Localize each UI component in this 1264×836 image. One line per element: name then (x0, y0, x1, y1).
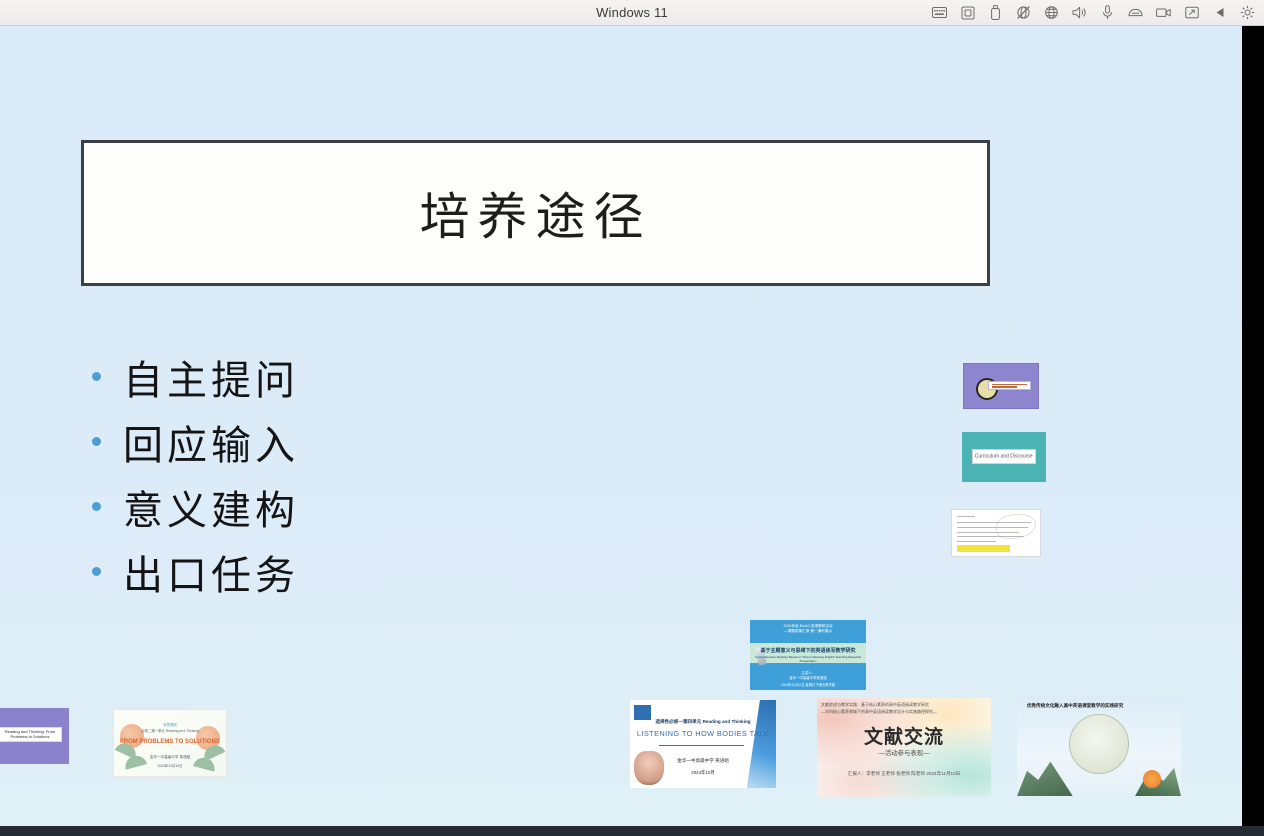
flag-icon (634, 705, 651, 720)
person-photo (634, 751, 664, 785)
keyboard-icon[interactable] (931, 4, 948, 21)
network-disabled-icon[interactable] (1015, 4, 1032, 21)
mountain-left-icon (1017, 754, 1073, 796)
purple-circle-slide-thumbnail[interactable] (963, 363, 1039, 409)
presentation-slide[interactable]: 培养途径 自主提问 回应输入 意义建构 出口任务 (0, 26, 1242, 826)
list-item: 回应输入 (92, 409, 299, 474)
thumbnail-caption: Reading and Thinking: From Problems to S… (5, 729, 55, 739)
page-title: 培养途径 (420, 177, 652, 249)
thumbnail-headline: 文献交流 (817, 722, 991, 749)
cutoff-purple-slide-thumbnail[interactable]: Reading and Thinking: From Problems to S… (0, 708, 69, 764)
circular-ornament (1069, 714, 1129, 774)
cpu-icon[interactable] (959, 4, 976, 21)
thumbnail-footer3: 2024年11月10日 星期日 于第五教学楼 (750, 682, 866, 687)
bullet-label: 自主提问 (123, 348, 299, 406)
listening-cover-slide-thumbnail[interactable]: 选择性必修一第四单元 Reading and Thinking LISTENIN… (630, 700, 776, 788)
list-item: 意义建构 (92, 474, 299, 539)
watercolor-literature-slide-thumbnail[interactable]: 文献综述与教学实践：基于核心素养的高中英语阅读教学研究 —学科核心素养视域下的高… (817, 698, 991, 797)
thumbnail-headline: FROM PROBLEMS TO SOLUTIONS (114, 739, 226, 745)
camera-icon[interactable] (1155, 4, 1172, 21)
thumbnail-textbox: Curriculum and Discourse (972, 449, 1036, 464)
thumbnail-headline: 基于主题意义与思维下的英语读写教学研究 (750, 647, 866, 654)
thumbnail-caption: Curriculum and Discourse (975, 453, 1033, 459)
thumbnail-line1: 2024年秋 Book2 英语教研活动 (750, 624, 866, 629)
right-letterbox (1242, 26, 1264, 836)
thumbnail-textbox: Reading and Thinking: From Problems to S… (0, 727, 62, 742)
printer-icon[interactable] (1127, 4, 1144, 21)
slide-title-box: 培养途径 (81, 140, 990, 286)
thumbnail-line1: 选择性必修一第四单元 Reading and Thinking (630, 719, 776, 725)
thumbnail-line2: —课题成果汇报·第一课时展示 (750, 629, 866, 634)
ink-painting-slide-thumbnail[interactable]: 优秀传统文化融入高中英语课堂教学的实践研究 (1017, 696, 1181, 796)
thumbnail-line2: —学科核心素养视域下的高中英语阅读教学设计与实施路径探究— (817, 709, 991, 715)
bullet-dot-icon (92, 437, 101, 446)
blue-presentation-cover-thumbnail[interactable]: 2024年秋 Book2 英语教研活动 —课题成果汇报·第一课时展示 基于主题意… (750, 620, 866, 690)
thumbnail-headline: LISTENING TO HOW BODIES TALK (630, 729, 776, 738)
thumbnail-footer: 汇报人：李老师 王老师 张老师 陈老师 2024年11月10日 (817, 771, 991, 777)
bullet-list: 自主提问 回应输入 意义建构 出口任务 (92, 344, 299, 604)
speaker-icon[interactable] (1071, 4, 1088, 21)
thumbnail-footer1: 主讲人： (750, 670, 866, 675)
thumbnail-line1: 读思课例 (114, 722, 226, 727)
list-item: 出口任务 (92, 539, 299, 604)
thumbnail-line2: 必修二第一单元 Reading and Thinking (114, 728, 226, 733)
thumbnail-subline: Comprehensive Reading Based on Theme Mea… (750, 655, 866, 663)
thumbnail-footer1: 金华一中高级中学 英语组 (114, 755, 226, 760)
teal-textbox-slide-thumbnail[interactable]: Curriculum and Discourse (962, 432, 1046, 482)
globe-icon[interactable] (1043, 4, 1060, 21)
bullet-dot-icon (92, 567, 101, 576)
bullet-dot-icon (92, 502, 101, 511)
divider (659, 745, 744, 747)
share-screen-icon[interactable] (1183, 4, 1200, 21)
window-titlebar: Windows 11 (0, 0, 1264, 26)
list-item: 自主提问 (92, 344, 299, 409)
thumbnail-textbox (988, 381, 1031, 391)
thumbnail-caption: 优秀传统文化融入高中英语课堂教学的实践研究 (1027, 703, 1123, 709)
yellow-highlight (957, 545, 1010, 552)
screen: Windows 11 (0, 0, 1264, 836)
microphone-icon[interactable] (1099, 4, 1116, 21)
bullet-dot-icon (92, 372, 101, 381)
thumbnail-footer2: 2024年10月 (630, 770, 776, 776)
thumbnail-line1: 文献综述与教学实践：基于核心素养的高中英语阅读教学研究 (817, 702, 991, 708)
gear-icon[interactable] (1239, 4, 1256, 21)
thumbnail-footer2: 2024年11月10日 (114, 763, 226, 768)
highlighted-document-thumbnail[interactable] (951, 509, 1041, 557)
bullet-label: 出口任务 (123, 543, 299, 601)
system-tray (931, 4, 1256, 21)
bullet-label: 意义建构 (123, 478, 299, 536)
thumbnail-footer2: 金华一中高级中学英语组 (750, 675, 866, 680)
usb-drive-icon[interactable] (987, 4, 1004, 21)
bottom-bar (0, 826, 1264, 836)
collapse-tray-icon[interactable] (1211, 4, 1228, 21)
thumbnail-footer1: 金华一中高级中学 英语组 (630, 758, 776, 764)
floral-cover-slide-thumbnail[interactable]: 读思课例 必修二第一单元 Reading and Thinking FROM P… (113, 709, 227, 777)
thumbnail-subtitle: —活动参与表现— (817, 748, 991, 757)
bullet-label: 回应输入 (123, 413, 299, 471)
